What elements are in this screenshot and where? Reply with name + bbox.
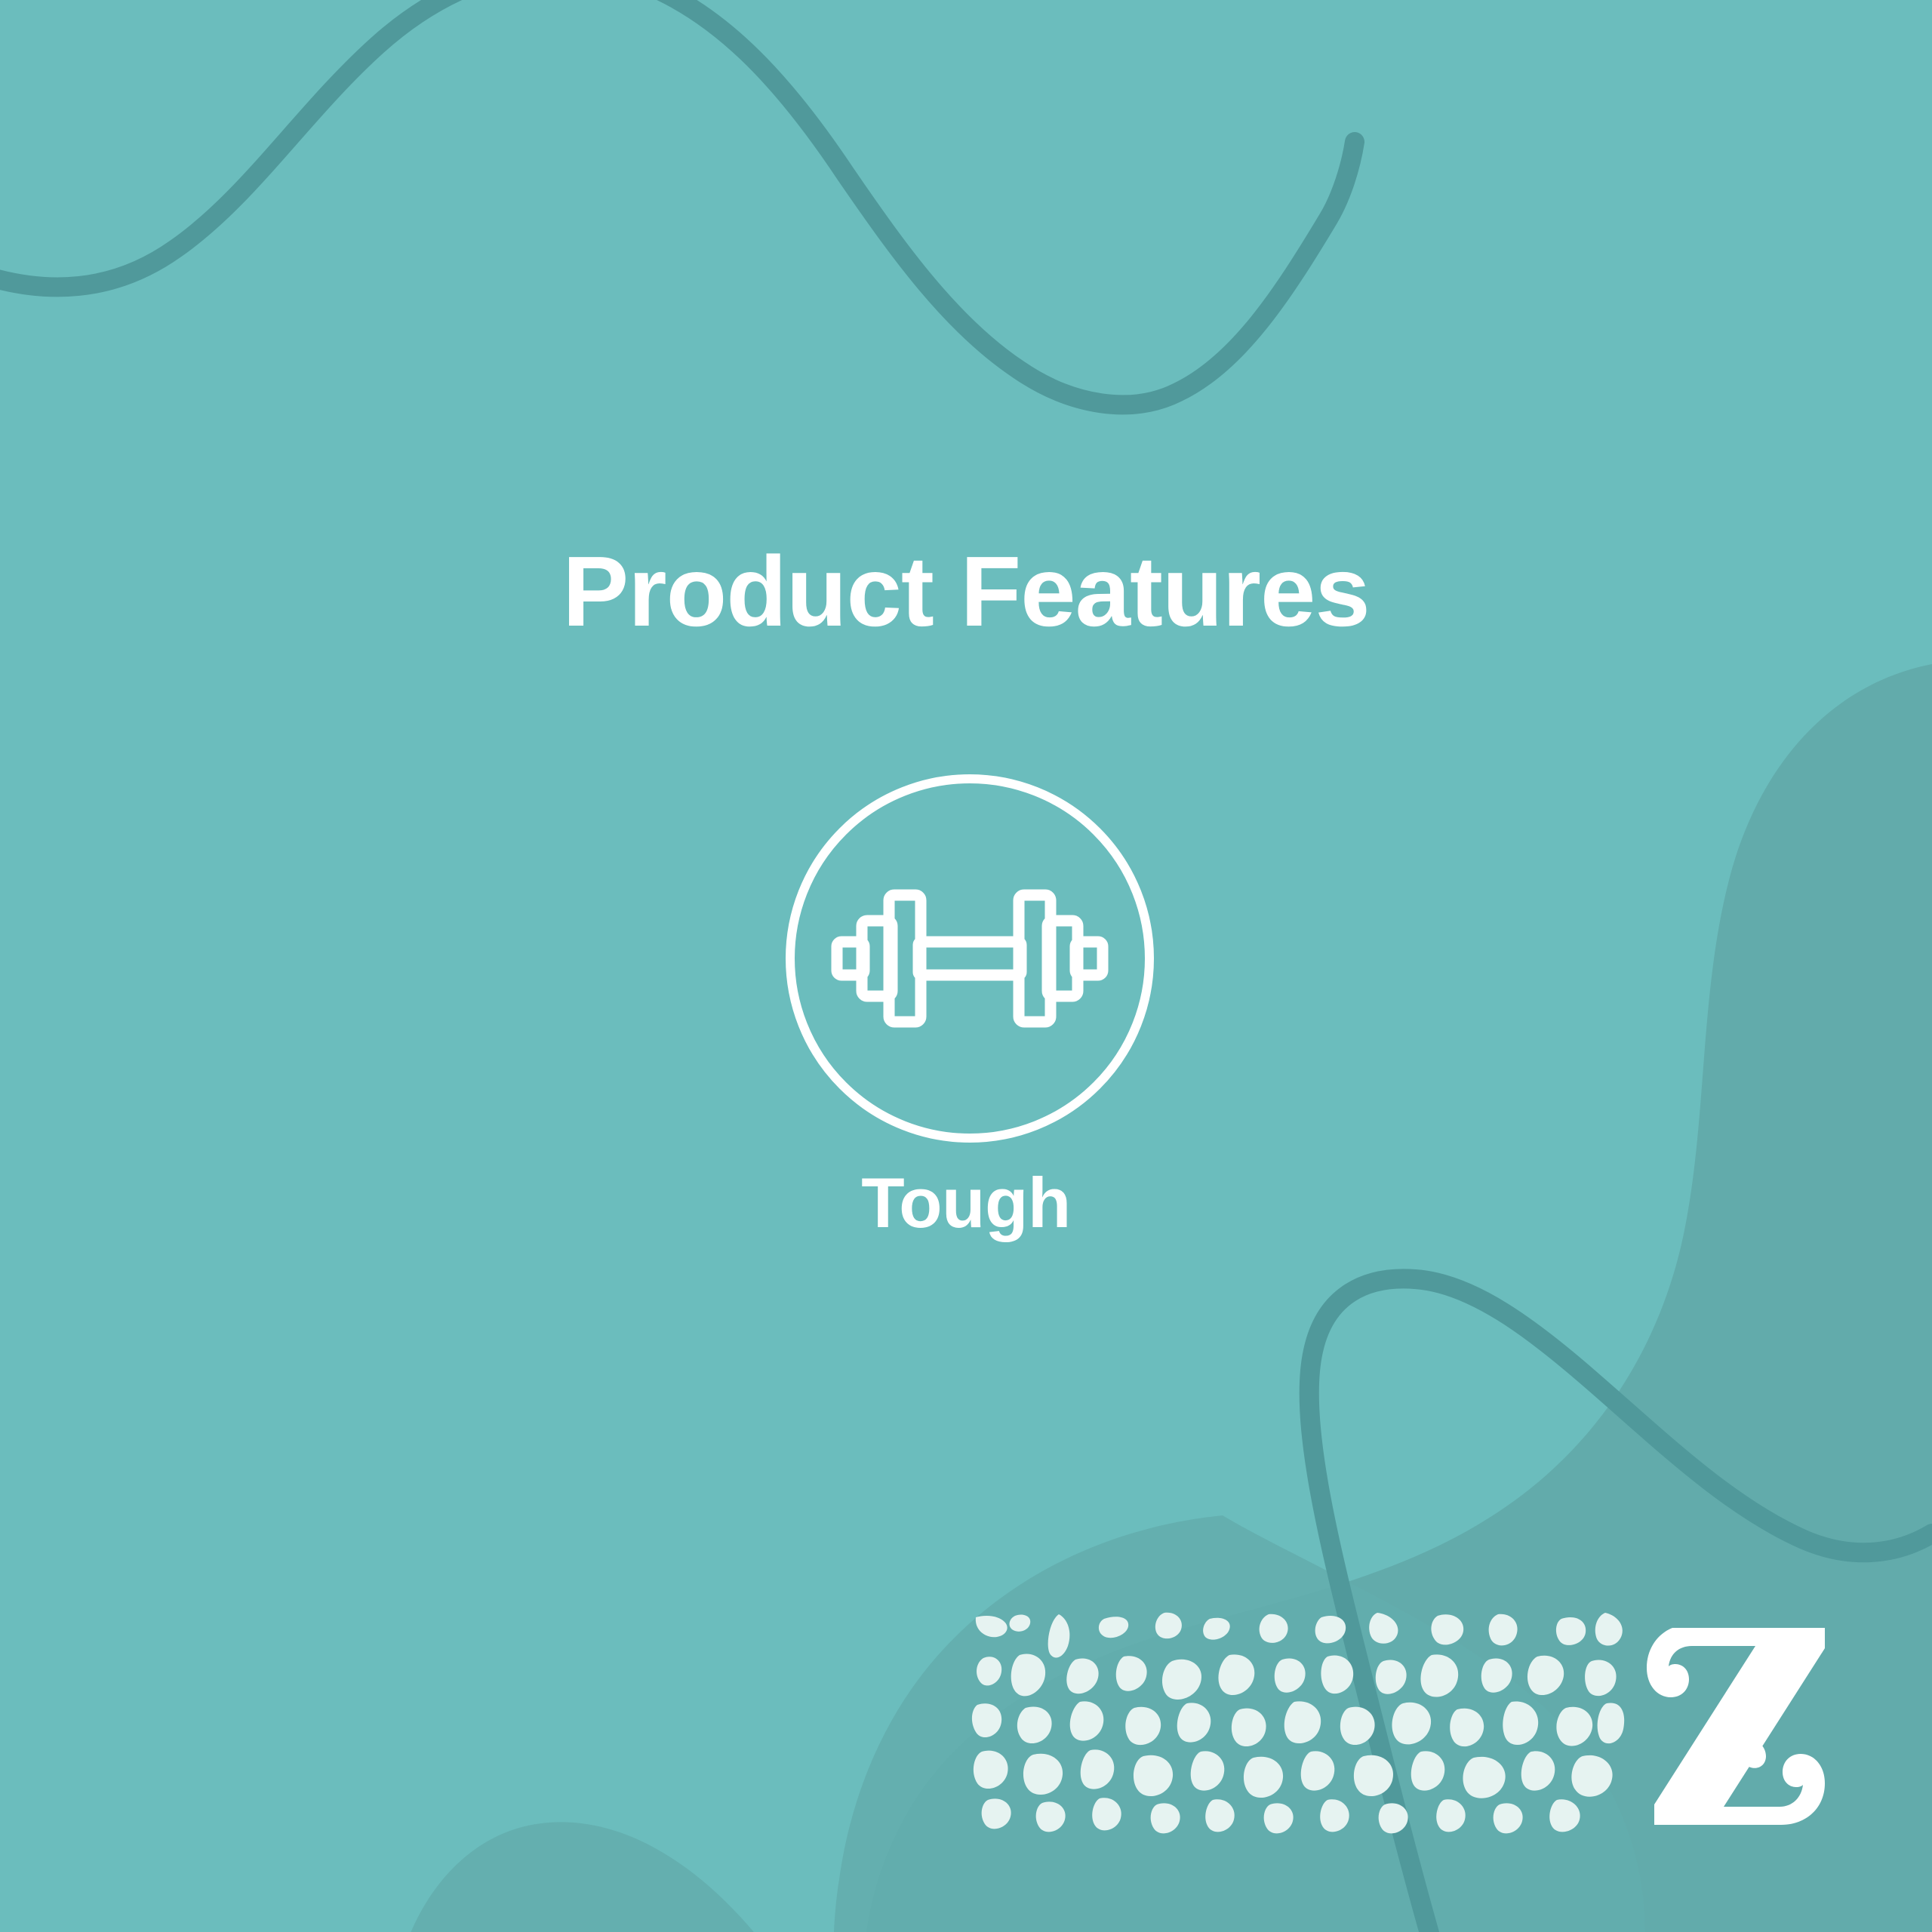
page-title: Product Features xyxy=(0,542,1932,641)
dumbbell-glyph xyxy=(837,895,1103,1022)
circle-outline xyxy=(790,779,1149,1138)
feature-icon-badge xyxy=(781,770,1158,1147)
terrazzo-chips xyxy=(972,1613,1624,1834)
poster-canvas: Product Features xyxy=(0,0,1932,1932)
poster-content: Product Features xyxy=(0,0,1932,1932)
logo-z-letter xyxy=(1647,1628,1825,1825)
feature-label: Tough xyxy=(0,1168,1932,1238)
terrazzo-chip-band xyxy=(970,1611,1626,1838)
dumbbell-icon xyxy=(781,770,1158,1147)
z-paw-logo[interactable] xyxy=(1645,1626,1834,1826)
